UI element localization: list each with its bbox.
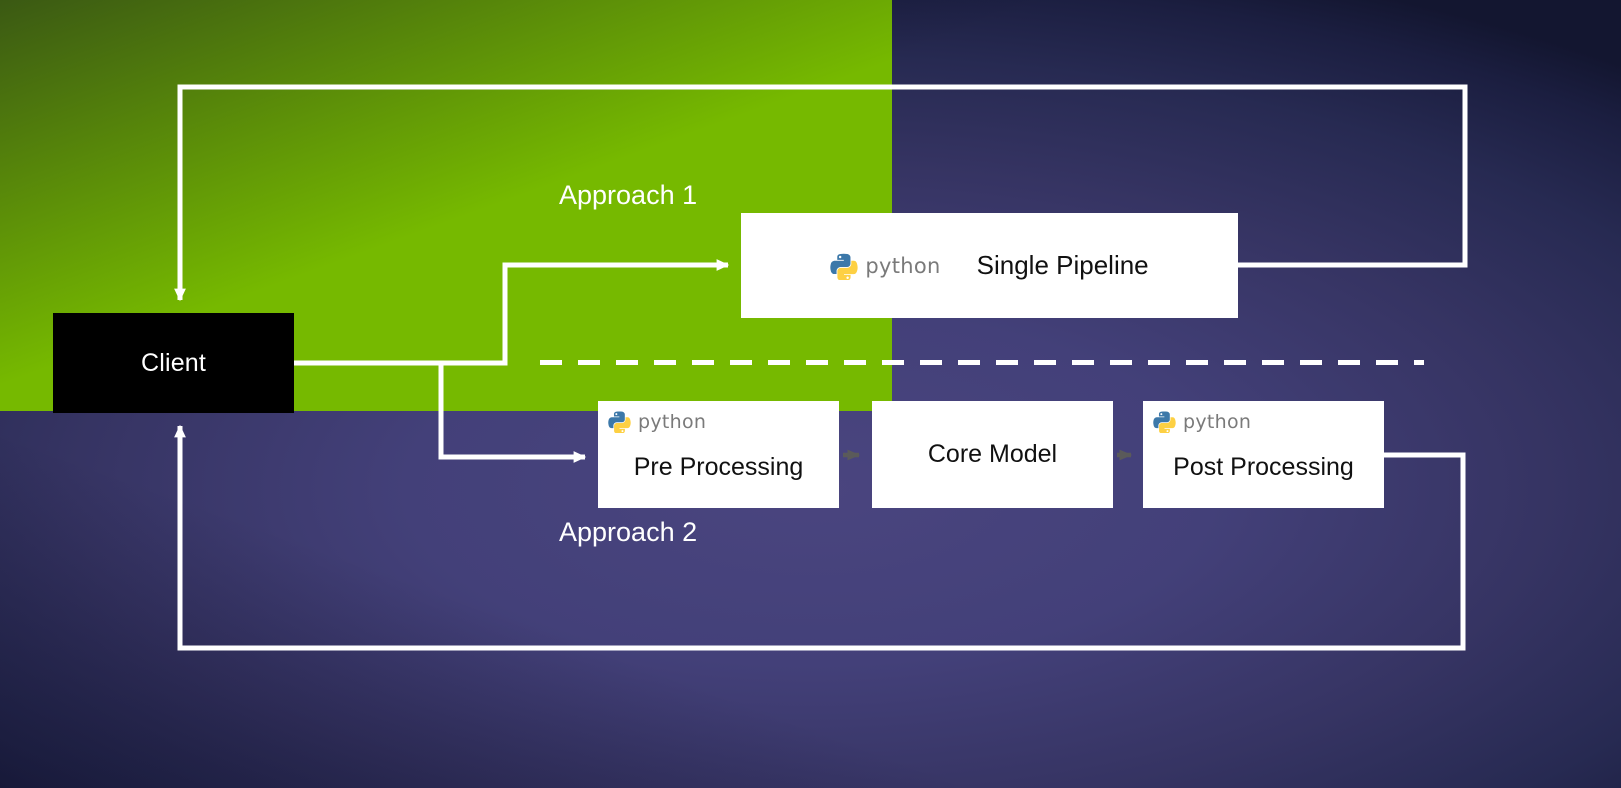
python-wordmark: python bbox=[1183, 411, 1251, 433]
approach-2-label: Approach 2 bbox=[559, 517, 697, 548]
node-label: Core Model bbox=[872, 441, 1113, 469]
python-wordmark: python bbox=[638, 411, 706, 433]
client-label: Client bbox=[141, 349, 206, 378]
python-wordmark: python bbox=[865, 254, 940, 278]
edge-client-to-pre-processing bbox=[441, 363, 585, 457]
node-label: Pre Processing bbox=[598, 454, 839, 482]
node-post-processing[interactable]: python Post Processing bbox=[1143, 401, 1384, 508]
python-logo-icon: python bbox=[1153, 410, 1251, 433]
node-core-model[interactable]: Core Model bbox=[872, 401, 1113, 508]
python-logo-icon: python bbox=[608, 410, 706, 433]
node-label: Single Pipeline bbox=[977, 251, 1149, 280]
edge-client-to-single-pipeline bbox=[294, 265, 728, 363]
node-single-pipeline[interactable]: python Single Pipeline bbox=[741, 213, 1238, 318]
approach-1-label: Approach 1 bbox=[559, 180, 697, 211]
node-pre-processing[interactable]: python Pre Processing bbox=[598, 401, 839, 508]
approach-divider bbox=[540, 360, 1424, 365]
python-logo-icon: python bbox=[830, 252, 940, 280]
client-node[interactable]: Client bbox=[53, 313, 294, 413]
diagram-canvas: Approach 1 Approach 2 Cl bbox=[0, 0, 1621, 788]
node-label: Post Processing bbox=[1143, 454, 1384, 482]
